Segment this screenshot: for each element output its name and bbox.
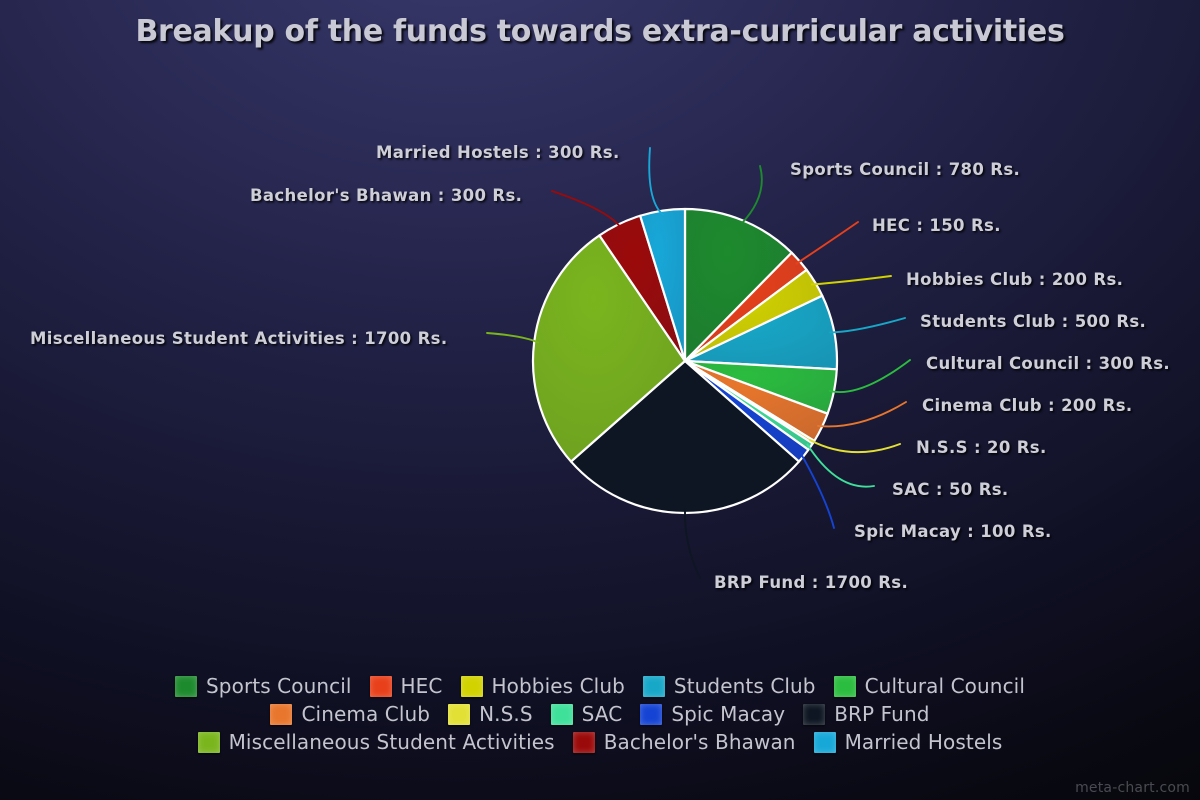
legend-swatch <box>551 704 573 725</box>
callout-label-sac: SAC : 50 Rs. <box>892 480 1009 499</box>
callout-label-bachelors_bhawan: Bachelor's Bhawan : 300 Rs. <box>250 186 522 205</box>
legend-swatch <box>643 676 665 697</box>
watermark: meta-chart.com <box>1075 780 1190 796</box>
legend-item[interactable]: HEC <box>370 674 443 698</box>
legend-swatch <box>814 732 836 753</box>
callout-label-students_club: Students Club : 500 Rs. <box>920 312 1146 331</box>
legend-label: Sports Council <box>206 674 352 698</box>
leader-line-nss <box>810 440 900 452</box>
leader-line-brp_fund <box>685 509 700 578</box>
legend-item[interactable]: Cultural Council <box>834 674 1025 698</box>
legend-label: Cultural Council <box>865 674 1025 698</box>
legend-label: Miscellaneous Student Activities <box>229 730 555 754</box>
legend-label: HEC <box>401 674 443 698</box>
pie-slice-group[interactable]: Sports Council : 780 Rs.HEC : 150 Rs.Hob… <box>533 209 837 513</box>
leader-line-spic_macay <box>801 453 834 528</box>
callout-label-cinema_club: Cinema Club : 200 Rs. <box>922 396 1133 415</box>
callout-label-sports_council: Sports Council : 780 Rs. <box>790 160 1020 179</box>
callout-label-brp_fund: BRP Fund : 1700 Rs. <box>714 573 908 592</box>
callout-label-hobbies_club: Hobbies Club : 200 Rs. <box>906 270 1123 289</box>
legend-row: Miscellaneous Student ActivitiesBachelor… <box>0 728 1200 756</box>
callout-label-spic_macay: Spic Macay : 100 Rs. <box>854 522 1052 541</box>
callout-label-miscellaneous: Miscellaneous Student Activities : 1700 … <box>30 329 447 348</box>
legend-item[interactable]: Miscellaneous Student Activities <box>198 730 555 754</box>
legend-item[interactable]: Married Hostels <box>814 730 1003 754</box>
legend-item[interactable]: BRP Fund <box>803 702 929 726</box>
callout-label-cultural_council: Cultural Council : 300 Rs. <box>926 354 1170 373</box>
leader-line-sports_council <box>741 166 762 224</box>
legend-swatch <box>370 676 392 697</box>
legend-swatch <box>640 704 662 725</box>
legend-row: Sports CouncilHECHobbies ClubStudents Cl… <box>0 672 1200 700</box>
legend-label: Students Club <box>674 674 816 698</box>
legend-item[interactable]: Bachelor's Bhawan <box>573 730 796 754</box>
legend-label: N.S.S <box>479 702 533 726</box>
callout-label-nss: N.S.S : 20 Rs. <box>916 438 1047 457</box>
legend-label: Spic Macay <box>671 702 785 726</box>
legend-swatch <box>198 732 220 753</box>
legend-swatch <box>270 704 292 725</box>
callout-label-hec: HEC : 150 Rs. <box>872 216 1001 235</box>
legend-row: Cinema ClubN.S.SSACSpic MacayBRP Fund <box>0 700 1200 728</box>
legend-swatch <box>461 676 483 697</box>
legend-swatch <box>448 704 470 725</box>
legend-item[interactable]: Hobbies Club <box>461 674 625 698</box>
legend-item[interactable]: N.S.S <box>448 702 533 726</box>
leader-line-students_club <box>830 318 905 332</box>
legend-label: Hobbies Club <box>492 674 625 698</box>
legend-swatch <box>803 704 825 725</box>
leader-line-miscellaneous <box>487 333 538 343</box>
legend-swatch <box>175 676 197 697</box>
legend-label: Bachelor's Bhawan <box>604 730 796 754</box>
callout-label-married_hostels: Married Hostels : 300 Rs. <box>376 143 620 162</box>
leader-line-hobbies_club <box>812 276 891 285</box>
legend: Sports CouncilHECHobbies ClubStudents Cl… <box>0 672 1200 756</box>
pie-chart-page: Breakup of the funds towards extra-curri… <box>0 0 1200 800</box>
legend-item[interactable]: Spic Macay <box>640 702 785 726</box>
leader-line-bachelors_bhawan <box>552 191 621 228</box>
legend-label: Cinema Club <box>301 702 430 726</box>
legend-label: BRP Fund <box>834 702 929 726</box>
leader-line-hec <box>797 222 859 264</box>
legend-item[interactable]: SAC <box>551 702 623 726</box>
leader-line-cultural_council <box>830 360 910 392</box>
legend-item[interactable]: Sports Council <box>175 674 352 698</box>
legend-swatch <box>573 732 595 753</box>
legend-item[interactable]: Students Club <box>643 674 816 698</box>
legend-item[interactable]: Cinema Club <box>270 702 430 726</box>
legend-swatch <box>834 676 856 697</box>
leader-line-married_hostels <box>649 148 663 215</box>
legend-label: SAC <box>582 702 623 726</box>
legend-label: Married Hostels <box>845 730 1003 754</box>
